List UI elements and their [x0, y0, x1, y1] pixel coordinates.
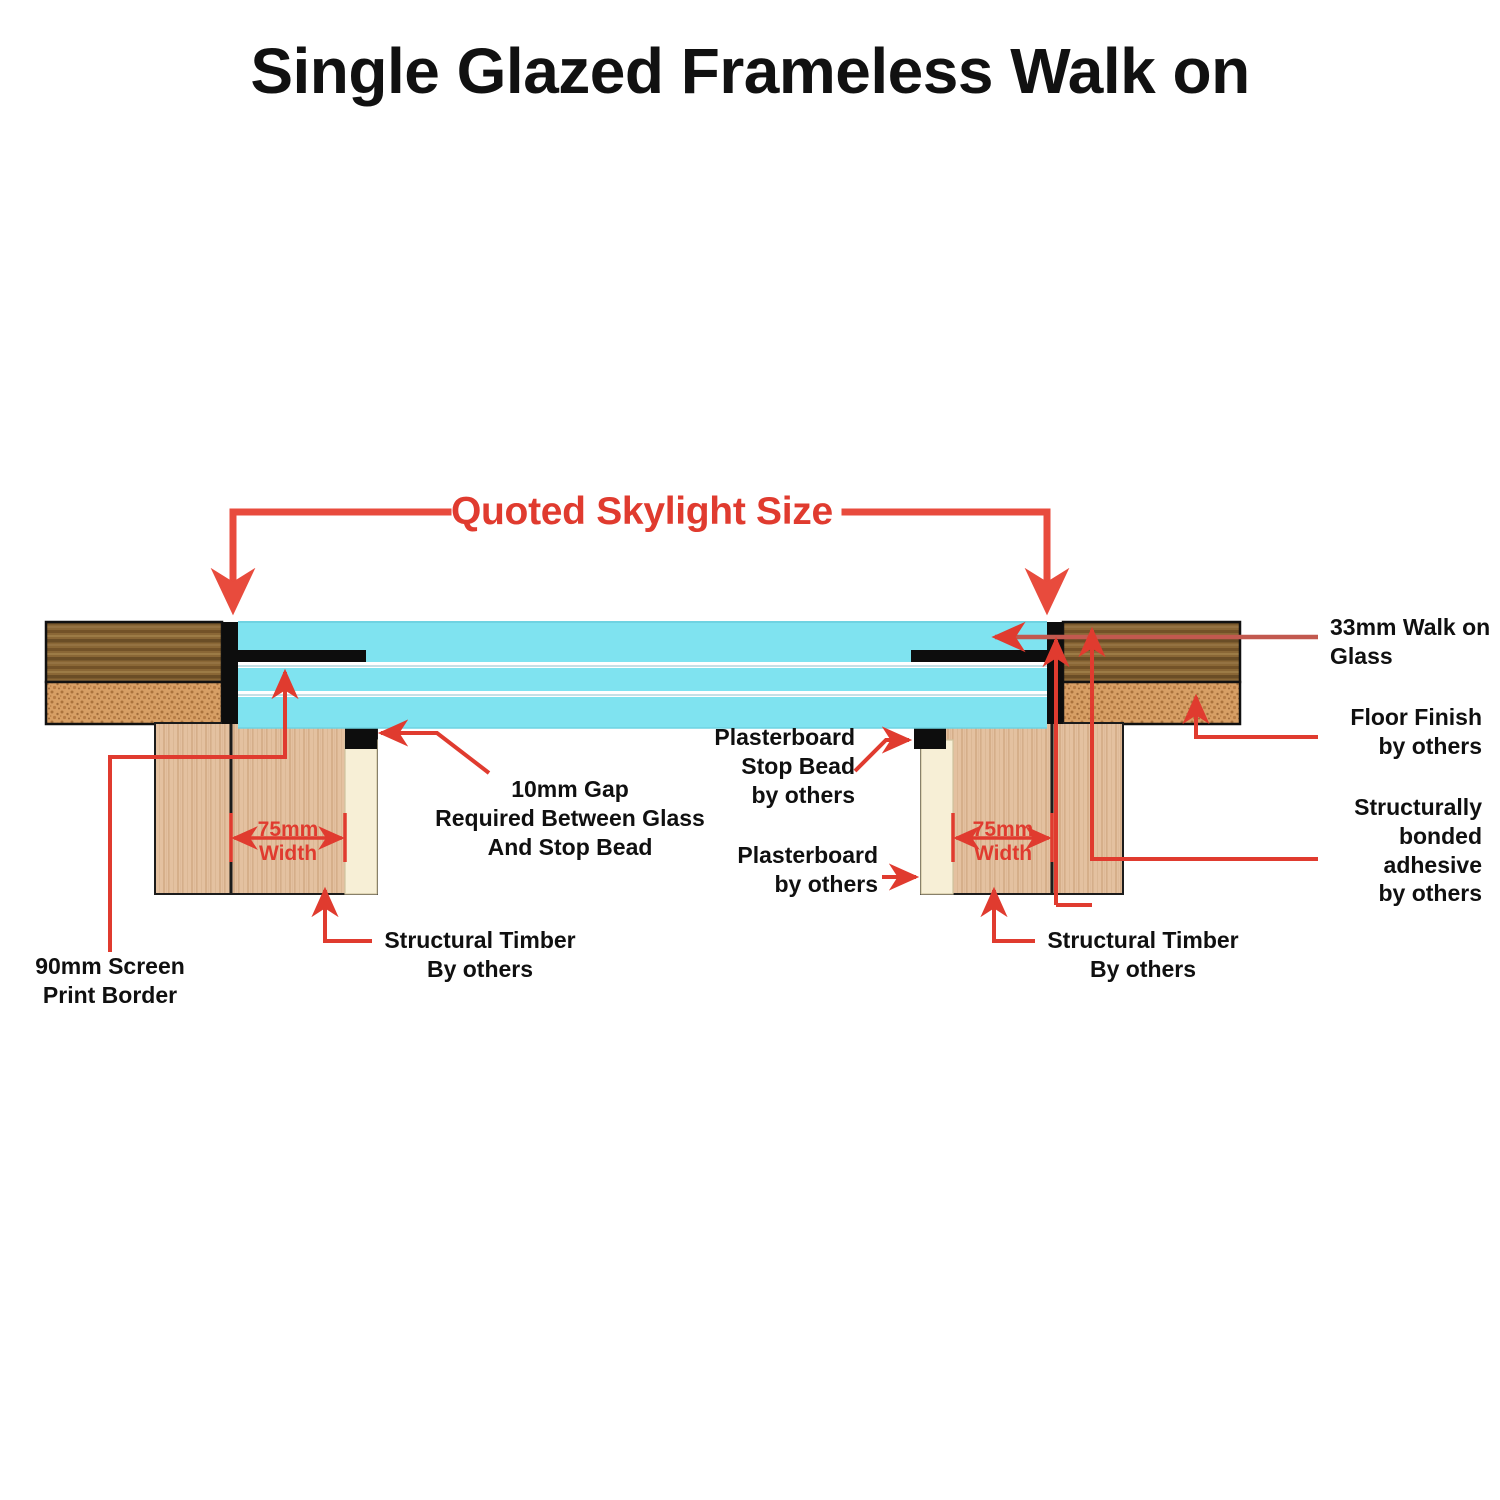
callout-label-plasterboard: Plasterboard by others — [630, 841, 878, 899]
plasterboard-left — [345, 740, 377, 894]
structural-timber-left-block — [155, 723, 377, 894]
plasterboard-stop-bead-right — [914, 727, 946, 749]
left-floor-assembly — [46, 622, 222, 724]
callout-label-structural-timber-left: Structural Timber By others — [380, 926, 580, 984]
callout-label-floor-finish: Floor Finish by others — [1250, 703, 1482, 761]
quoted-skylight-size-label: Quoted Skylight Size — [451, 490, 833, 534]
callout-label-plasterboard-stop-bead: Plasterboard Stop Bead by others — [600, 723, 855, 809]
dimension-label-75mm-left: 75mm Width — [238, 818, 338, 866]
callout-plasterboard-stop-bead — [855, 740, 909, 771]
walk-on-glass-unit — [238, 622, 1047, 728]
callout-10mm-gap — [381, 733, 489, 773]
plasterboard-right — [921, 740, 953, 894]
callout-label-structural-timber-right: Structural Timber By others — [1043, 926, 1243, 984]
callout-label-screen-print-border: 90mm Screen Print Border — [10, 952, 210, 1010]
callout-label-bonded-adhesive: Structurally bonded adhesive by others — [1250, 793, 1482, 908]
bonded-adhesive-left — [222, 622, 238, 724]
callout-structural-timber-left — [325, 890, 372, 941]
screen-print-border-left — [235, 650, 366, 662]
callout-structural-timber-right — [994, 890, 1035, 941]
screen-print-border-right — [911, 650, 1047, 662]
plasterboard-stop-bead-left — [345, 727, 377, 749]
callout-label-walk-on-glass: 33mm Walk on Glass — [1330, 613, 1495, 671]
dimension-label-75mm-right: 75mm Width — [953, 818, 1053, 866]
diagram-canvas: Single Glazed Frameless Walk on — [0, 0, 1500, 1500]
